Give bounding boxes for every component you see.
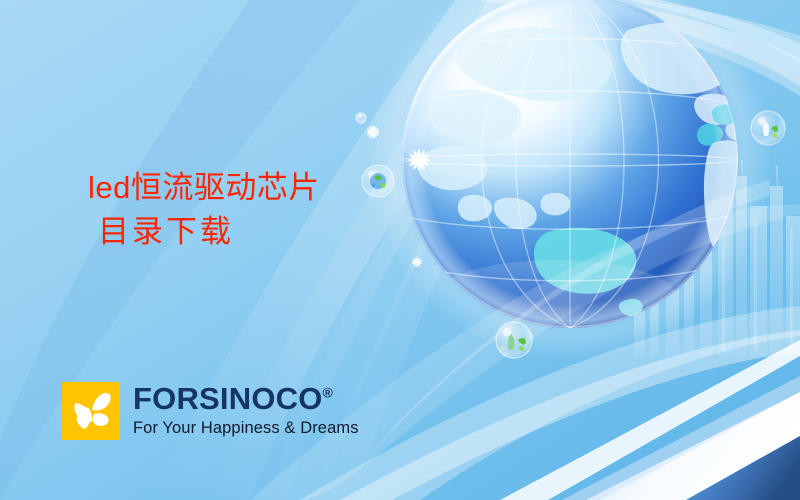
headline-line-1: led恒流驱动芯片 <box>88 166 320 210</box>
brand-wordmark: FORSINOCO® For Your Happiness & Dreams <box>133 383 359 437</box>
brand-tagline: For Your Happiness & Dreams <box>133 420 359 437</box>
registered-trademark-icon: ® <box>323 385 334 401</box>
brand-name: FORSINOCO® <box>133 383 359 414</box>
bubble-with-leaf-icon <box>751 111 785 145</box>
bubble-with-globe-icon <box>362 165 394 197</box>
brand-logo[interactable]: FORSINOCO® For Your Happiness & Dreams <box>62 382 359 440</box>
bubble-small <box>356 113 366 123</box>
four-petal-pinwheel-mark <box>62 382 120 440</box>
headline-block: led恒流驱动芯片 目录下载 <box>88 166 320 254</box>
promo-banner: led恒流驱动芯片 目录下载 FORSINOCO® For Your Happi… <box>0 0 800 500</box>
bubble-with-leaf-icon <box>496 322 532 358</box>
brand-name-text: FORSINOCO <box>133 381 323 416</box>
headline-line-2: 目录下载 <box>98 210 320 254</box>
